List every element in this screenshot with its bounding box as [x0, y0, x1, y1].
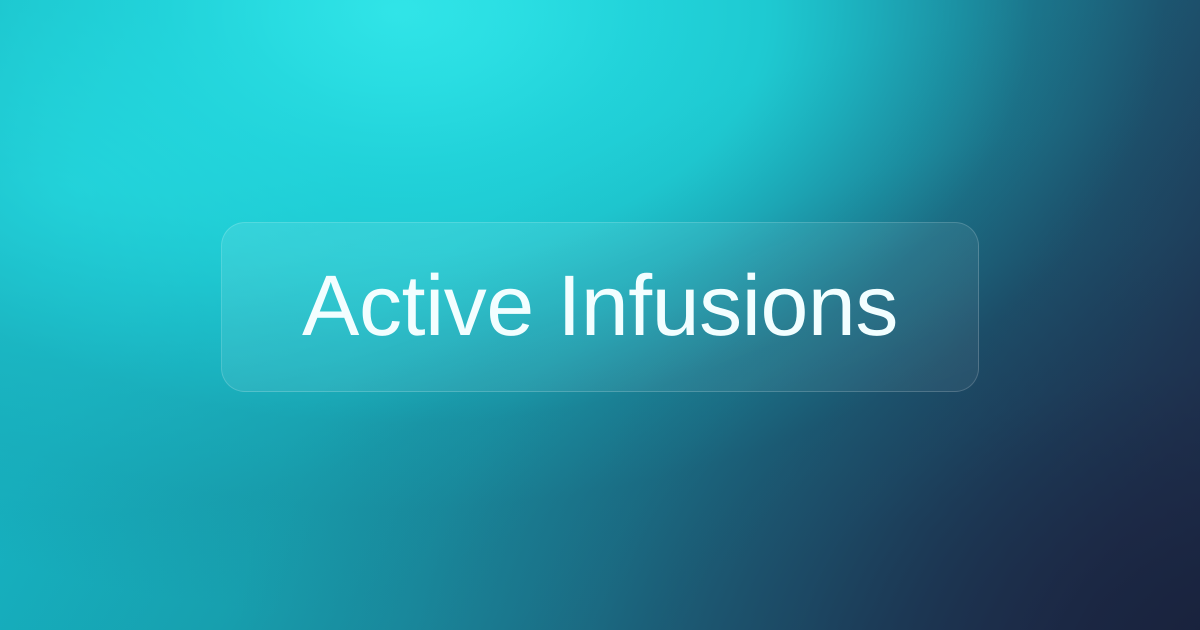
title-card: Active Infusions	[221, 222, 979, 392]
share-card-canvas: Active Infusions	[0, 0, 1200, 630]
card-layer: Active Infusions	[0, 0, 1200, 630]
page-title: Active Infusions	[302, 263, 898, 351]
